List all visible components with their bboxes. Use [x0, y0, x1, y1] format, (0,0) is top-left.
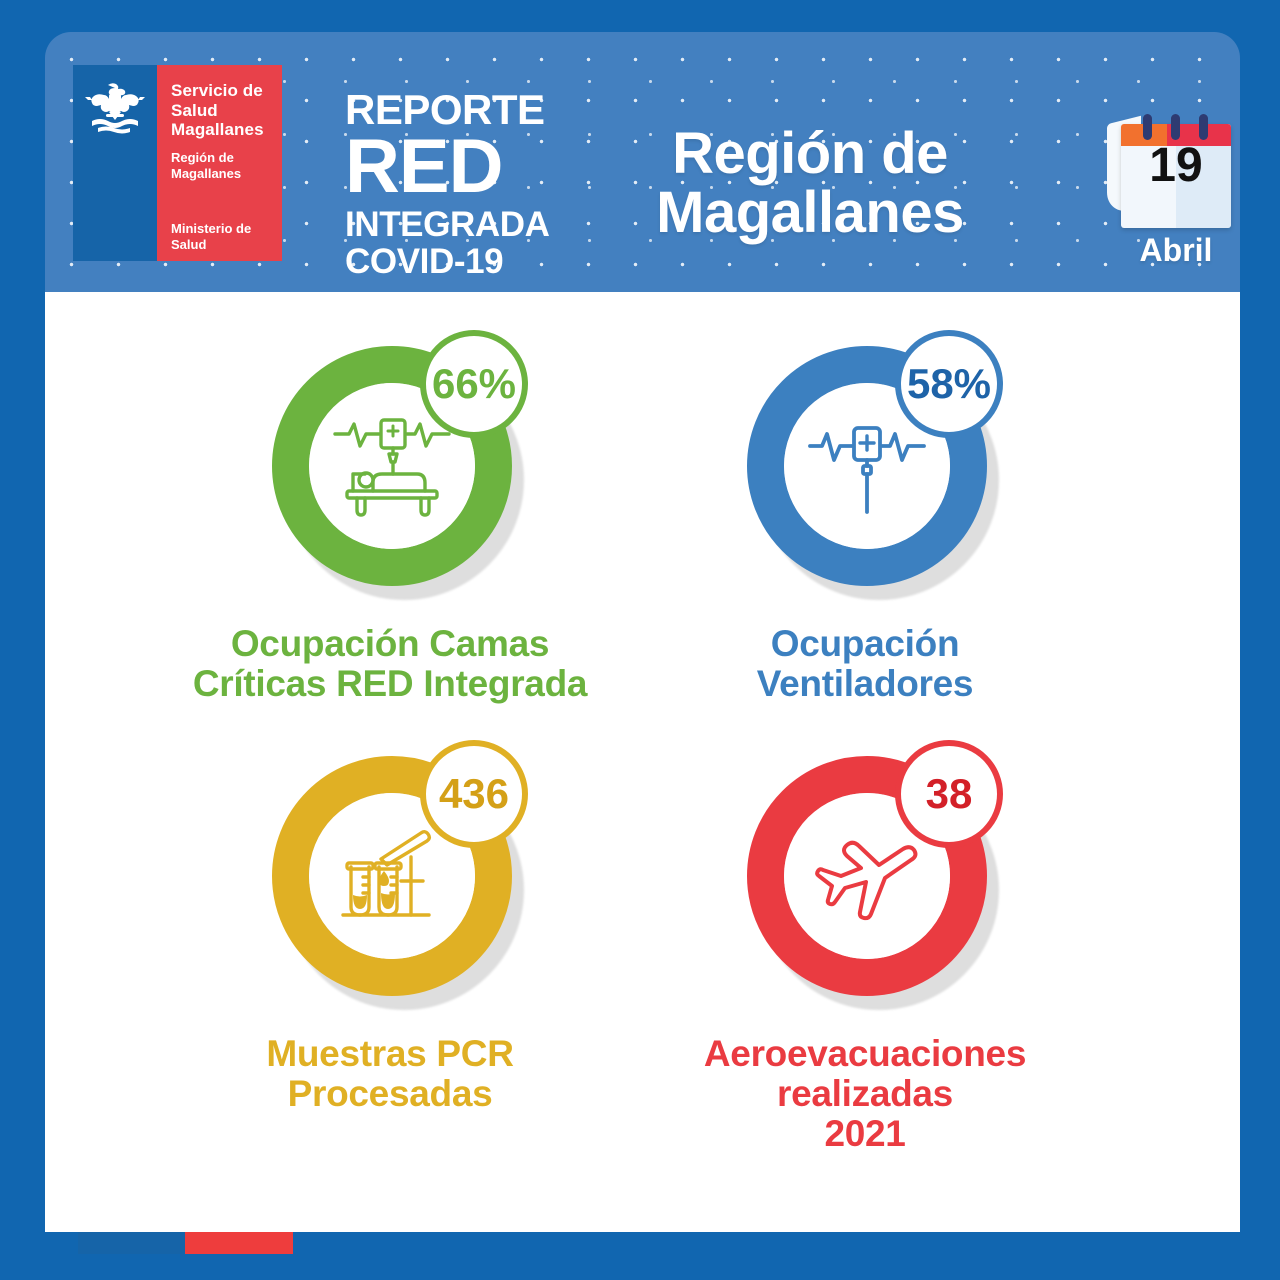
region-title-line1: Región de	[575, 124, 1045, 183]
report-title-covid19: COVID-19	[345, 244, 549, 279]
hospital-bed-icon	[333, 412, 451, 520]
stat-value-badge: 66%	[420, 330, 528, 438]
stat-value-badge: 38	[895, 740, 1003, 848]
logo-servicio-line2: Salud	[171, 101, 282, 121]
stat-label-line2: Críticas RED Integrada	[180, 664, 600, 704]
chile-coat-of-arms-icon	[84, 81, 146, 142]
stat-value: 436	[439, 773, 509, 815]
content-panel: 66% Ocupación Camas Críticas RED Integra…	[45, 292, 1240, 1232]
stat-label-line3: 2021	[655, 1114, 1075, 1154]
header-banner: Servicio de Salud Magallanes Región de M…	[45, 32, 1240, 292]
calendar-ring-1-icon	[1143, 114, 1152, 140]
report-title-red: RED	[345, 129, 549, 205]
stat-label-line1: Ocupación Camas	[180, 624, 600, 664]
stat-ring-wrapper: 436	[180, 740, 600, 1030]
calendar-day: 19	[1121, 142, 1231, 190]
stat-value: 58%	[907, 363, 991, 405]
calendar-ring-2-icon	[1171, 114, 1180, 140]
stat-card-muestras-pcr: 436 Muestras PCR Procesadas	[180, 740, 600, 1114]
logo-region-line1: Región de	[171, 150, 282, 166]
logo-ministerio-line1: Ministerio de	[171, 221, 282, 237]
stat-value-badge: 58%	[895, 330, 1003, 438]
stat-value: 38	[926, 773, 973, 815]
stat-value: 66%	[432, 363, 516, 405]
region-title-line2: Magallanes	[575, 183, 1045, 242]
logo-ministerio-line2: Salud	[171, 237, 282, 253]
stat-label-line2: Procesadas	[180, 1074, 600, 1114]
stat-label: Ocupación Ventiladores	[655, 624, 1075, 704]
airplane-icon	[811, 826, 923, 926]
stat-card-aeroevacuaciones: 38 Aeroevacuaciones realizadas 2021	[655, 740, 1075, 1154]
report-title-integrada: INTEGRADA	[345, 207, 549, 242]
stat-label-line2: Ventiladores	[655, 664, 1075, 704]
calendar-widget: 19 Abril	[1121, 106, 1240, 246]
stat-label-line1: Ocupación	[655, 624, 1075, 664]
stat-label-line1: Muestras PCR	[180, 1034, 600, 1074]
footer-flag-bar	[78, 1232, 293, 1254]
stat-ring-wrapper: 58%	[655, 330, 1075, 620]
logo-servicio-line3: Magallanes	[171, 120, 282, 140]
stat-label: Aeroevacuaciones realizadas 2021	[655, 1034, 1075, 1154]
stat-ring-wrapper: 66%	[180, 330, 600, 620]
stat-card-camas-criticas: 66% Ocupación Camas Críticas RED Integra…	[180, 330, 600, 704]
stat-ring-wrapper: 38	[655, 740, 1075, 1030]
footer-flag-blue	[78, 1232, 185, 1254]
logo-servicio-line1: Servicio de	[171, 81, 282, 101]
stat-label-line1: Aeroevacuaciones	[655, 1034, 1075, 1074]
report-title-block: REPORTE RED INTEGRADA COVID-19	[345, 89, 549, 279]
ventilator-monitor-icon	[808, 412, 926, 520]
stat-value-badge: 436	[420, 740, 528, 848]
logo-blue-panel	[73, 65, 157, 261]
stat-label: Muestras PCR Procesadas	[180, 1034, 600, 1114]
region-title: Región de Magallanes	[575, 124, 1045, 242]
stats-grid: 66% Ocupación Camas Críticas RED Integra…	[45, 292, 1240, 1232]
calendar-ring-3-icon	[1199, 114, 1208, 140]
logo-region-line2: Magallanes	[171, 166, 282, 182]
stat-label-line2: realizadas	[655, 1074, 1075, 1114]
logo-red-panel: Servicio de Salud Magallanes Región de M…	[157, 65, 282, 261]
calendar-month: Abril	[1115, 232, 1237, 269]
ministerio-salud-logo: Servicio de Salud Magallanes Región de M…	[73, 65, 282, 261]
stat-card-ventiladores: 58% Ocupación Ventiladores	[655, 330, 1075, 704]
stat-label: Ocupación Camas Críticas RED Integrada	[180, 624, 600, 704]
test-tubes-pipette-icon	[337, 823, 447, 929]
footer-flag-red	[185, 1232, 293, 1254]
